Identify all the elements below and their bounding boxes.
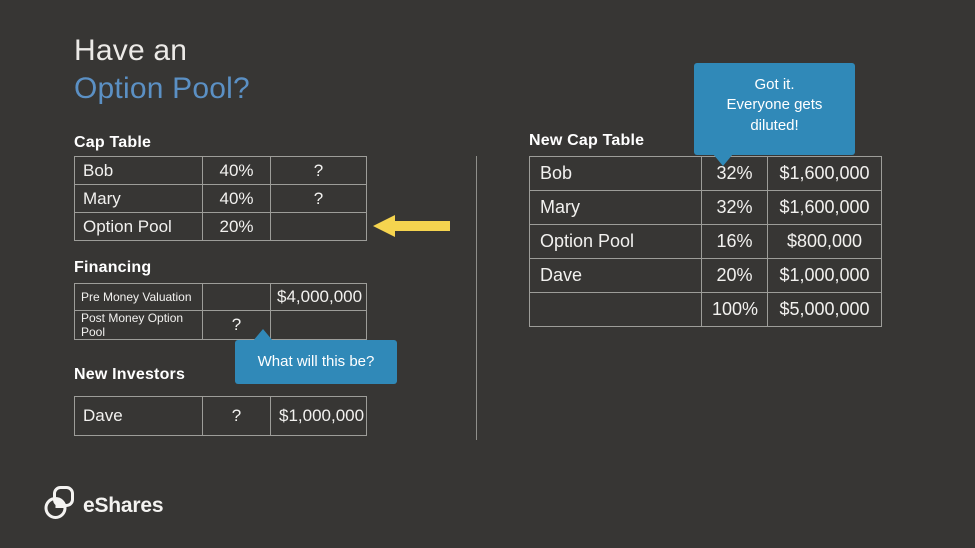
cell-value: $5,000,000	[768, 293, 882, 327]
cell-value	[271, 311, 367, 340]
table-row: Dave ? $1,000,000	[75, 397, 367, 436]
cell-percent: 32%	[702, 191, 768, 225]
heading-cap-table: Cap Table	[74, 134, 151, 152]
table-row: Mary 40% ?	[75, 185, 367, 213]
cell-percent: 40%	[203, 185, 271, 213]
table-row: Pre Money Valuation $4,000,000	[75, 284, 367, 311]
cell-name: Dave	[75, 397, 203, 436]
cell-name	[530, 293, 702, 327]
cell-name: Pre Money Valuation	[75, 284, 203, 311]
cell-percent: 32%	[702, 157, 768, 191]
cap-table: Bob 40% ? Mary 40% ? Option Pool 20%	[74, 156, 367, 241]
table-row: Option Pool 20%	[75, 213, 367, 241]
cell-percent	[203, 284, 271, 311]
cell-name: Dave	[530, 259, 702, 293]
cell-percent: 40%	[203, 157, 271, 185]
left-arrow-icon	[373, 215, 450, 237]
cell-value: ?	[271, 185, 367, 213]
cell-name: Bob	[530, 157, 702, 191]
table-row: Mary 32% $1,600,000	[530, 191, 882, 225]
new-investors-table: Dave ? $1,000,000	[74, 396, 367, 436]
cell-percent: 20%	[203, 213, 271, 241]
cell-name: Bob	[75, 157, 203, 185]
heading-new-cap-table: New Cap Table	[529, 132, 644, 150]
cell-value: ?	[271, 157, 367, 185]
cell-percent: 100%	[702, 293, 768, 327]
title-line-1: Have an	[74, 34, 250, 68]
callout-diluted-text: Got it. Everyone gets diluted!	[727, 76, 823, 134]
cell-percent: 20%	[702, 259, 768, 293]
callout-tail-up-icon	[253, 329, 273, 341]
table-row: Bob 40% ?	[75, 157, 367, 185]
vertical-divider	[476, 156, 477, 440]
cell-percent: ?	[203, 397, 271, 436]
cell-percent: 16%	[702, 225, 768, 259]
table-row: Post Money Option Pool ?	[75, 311, 367, 340]
cell-name: Option Pool	[75, 213, 203, 241]
cell-value: $4,000,000	[271, 284, 367, 311]
cell-name: Mary	[75, 185, 203, 213]
slide-canvas: Have an Option Pool? Cap Table Financing…	[0, 0, 975, 548]
cell-value: $1,000,000	[768, 259, 882, 293]
cell-value: $1,600,000	[768, 191, 882, 225]
cell-name: Option Pool	[530, 225, 702, 259]
callout-what-text: What will this be?	[258, 353, 375, 370]
cell-name: Post Money Option Pool	[75, 311, 203, 340]
table-row-total: 100% $5,000,000	[530, 293, 882, 327]
table-row: Bob 32% $1,600,000	[530, 157, 882, 191]
eshares-logo: eShares	[44, 486, 163, 525]
callout-diluted: Got it. Everyone gets diluted!	[694, 63, 855, 155]
financing-table: Pre Money Valuation $4,000,000 Post Mone…	[74, 283, 367, 340]
cell-value: $1,600,000	[768, 157, 882, 191]
eshares-logo-text: eShares	[83, 494, 163, 518]
cell-value	[271, 213, 367, 241]
cell-name: Mary	[530, 191, 702, 225]
cell-value: $1,000,000	[271, 397, 367, 436]
callout-tail-down-icon	[713, 154, 733, 166]
callout-what-will-this-be: What will this be?	[235, 340, 397, 384]
new-cap-table: Bob 32% $1,600,000 Mary 32% $1,600,000 O…	[529, 156, 882, 327]
page-title: Have an Option Pool?	[74, 34, 250, 105]
heading-financing: Financing	[74, 259, 151, 277]
title-line-2: Option Pool?	[74, 72, 250, 106]
table-row: Dave 20% $1,000,000	[530, 259, 882, 293]
table-row: Option Pool 16% $800,000	[530, 225, 882, 259]
cell-value: $800,000	[768, 225, 882, 259]
heading-new-investors: New Investors	[74, 366, 185, 384]
eshares-mark-icon	[44, 486, 74, 525]
